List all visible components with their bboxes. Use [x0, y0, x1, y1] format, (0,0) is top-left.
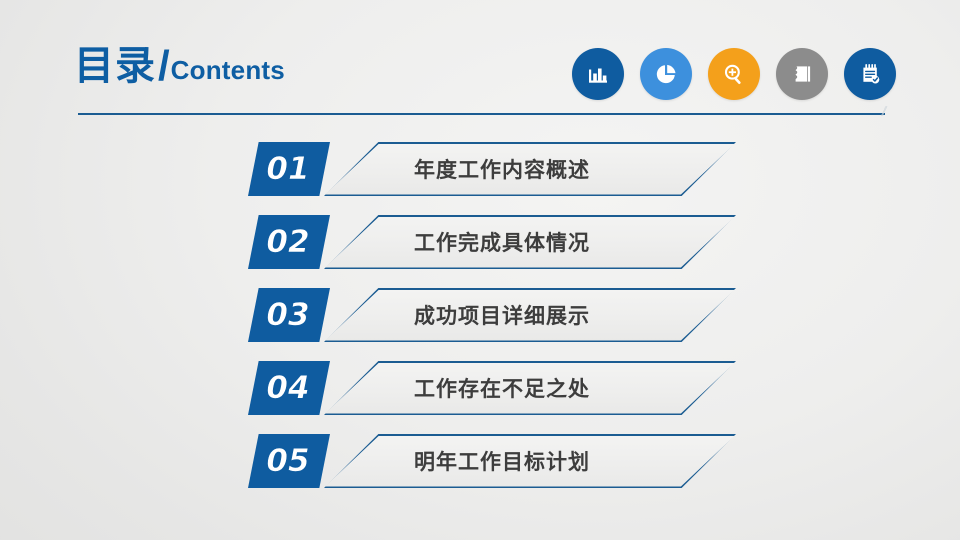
item-label-shape: 成功项目详细展示 [324, 288, 736, 342]
item-label: 工作存在不足之处 [324, 361, 736, 415]
list-item[interactable]: 01 年度工作内容概述 [0, 140, 960, 200]
list-item[interactable]: 03 成功项目详细展示 [0, 286, 960, 346]
item-number: 02 [266, 224, 309, 260]
page-title-en: Contents [171, 57, 285, 83]
item-label-shape: 年度工作内容概述 [324, 142, 736, 196]
list-item[interactable]: 02 工作完成具体情况 [0, 213, 960, 273]
item-label-shape: 工作完成具体情况 [324, 215, 736, 269]
list-item[interactable]: 05 明年工作目标计划 [0, 432, 960, 492]
item-number: 03 [266, 297, 309, 333]
item-number-badge: 01 [248, 142, 330, 196]
item-number: 05 [266, 443, 309, 479]
item-number-badge: 03 [248, 288, 330, 342]
page-title: 目录 / Contents [74, 44, 285, 86]
item-label: 明年工作目标计划 [324, 434, 736, 488]
title-separator: / [158, 45, 170, 87]
item-label: 成功项目详细展示 [324, 288, 736, 342]
item-label: 工作完成具体情况 [324, 215, 736, 269]
slide-canvas: 目录 / Contents [0, 0, 960, 540]
item-number-badge: 02 [248, 215, 330, 269]
header-divider-tail [876, 106, 892, 116]
item-label: 年度工作内容概述 [324, 142, 736, 196]
item-label-shape: 明年工作目标计划 [324, 434, 736, 488]
pie-chart-icon[interactable] [640, 48, 692, 100]
notepad-check-icon[interactable] [844, 48, 896, 100]
item-number: 01 [266, 151, 309, 187]
header-icon-row [572, 48, 896, 100]
list-item[interactable]: 04 工作存在不足之处 [0, 359, 960, 419]
page-title-cn: 目录 [74, 46, 156, 86]
item-number-badge: 04 [248, 361, 330, 415]
item-number: 04 [266, 370, 309, 406]
header-divider [78, 113, 885, 115]
item-label-shape: 工作存在不足之处 [324, 361, 736, 415]
item-number-badge: 05 [248, 434, 330, 488]
contents-list: 01 年度工作内容概述 02 工作完成具体情况 [0, 140, 960, 505]
zoom-in-icon[interactable] [708, 48, 760, 100]
bar-chart-icon[interactable] [572, 48, 624, 100]
slide-header: 目录 / Contents [0, 0, 960, 122]
notebook-icon[interactable] [776, 48, 828, 100]
